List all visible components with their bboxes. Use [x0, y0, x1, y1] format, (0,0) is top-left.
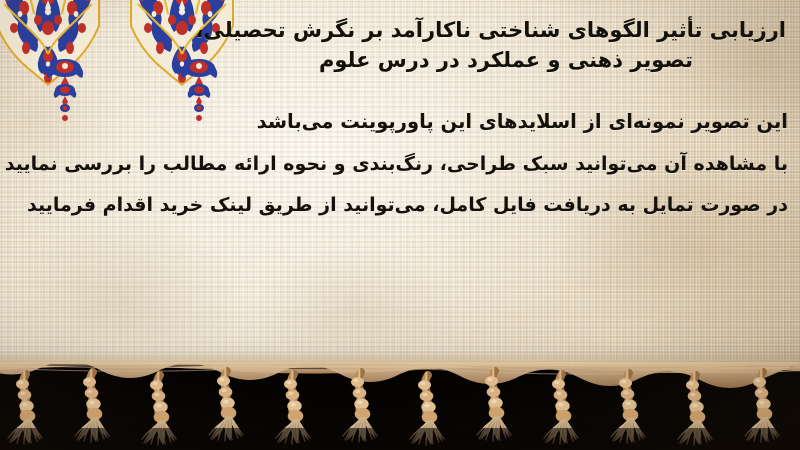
- carpet-tassel-fringe: [0, 362, 800, 450]
- slide-title: ارزیابی تأثیر الگوهای شناختی ناکارآمد بر…: [226, 16, 786, 76]
- slide-body-line-2: با مشاهده آن می‌توانید سبک طراحی، رنگ‌بن…: [6, 155, 788, 174]
- slide-body: این تصویر نمونه‌ای از اسلایدهای این پاور…: [6, 112, 788, 215]
- fringe-svg: [0, 362, 800, 450]
- slide-body-line-3: در صورت تمایل به دریافت فایل کامل، می‌تو…: [6, 196, 788, 215]
- slide-title-line-1: ارزیابی تأثیر الگوهای شناختی ناکارآمد بر…: [226, 16, 786, 46]
- slide-body-line-1: این تصویر نمونه‌ای از اسلایدهای این پاور…: [6, 112, 788, 132]
- slide-title-line-2: تصویر ذهنی و عملکرد در درس علوم: [226, 46, 786, 76]
- persian-medallion-ornament-left: [0, 0, 102, 106]
- slide-canvas: ارزیابی تأثیر الگوهای شناختی ناکارآمد بر…: [0, 0, 800, 450]
